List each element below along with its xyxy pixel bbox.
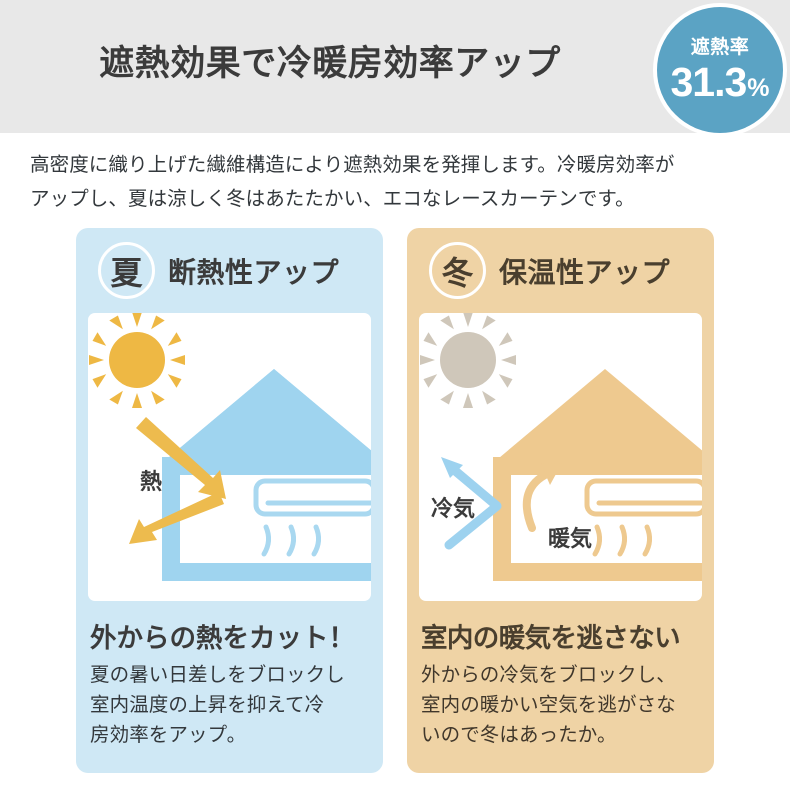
badge-percent-sign: %: [747, 76, 769, 101]
intro-line-2: アップし、夏は涼しく冬はあたたかい、エコなレースカーテンです。: [30, 182, 730, 216]
heat-label: 熱: [140, 469, 162, 494]
summer-heading: 外からの熱をカット！: [90, 616, 375, 655]
air-conditioner-winter-icon: [587, 481, 702, 554]
winter-body-line-2: 室内の暖かい空気を逃がさな: [421, 690, 711, 720]
summer-illustration-card: 熱: [88, 313, 371, 601]
winter-body: 外からの冷気をブロックし、 室内の暖かい空気を逃がさな いので冬はあったか。: [421, 660, 711, 750]
winter-heading: 室内の暖気を逃さない: [421, 616, 706, 655]
summer-body: 夏の暑い日差しをブロックし 室内温度の上昇を抑えて冷 房効率をアップ。: [90, 660, 380, 750]
summer-panel: 夏 断熱性アップ: [76, 228, 383, 773]
winter-panel-title: 保温性アップ: [499, 251, 670, 291]
summer-body-line-2: 室内温度の上昇を抑えて冷: [90, 690, 380, 720]
winter-body-line-3: いので冬はあったか。: [421, 720, 711, 750]
warm-air-label: 暖気: [548, 526, 592, 551]
warm-air-arrow: [527, 473, 549, 528]
winter-panel-header: 冬 保温性アップ: [407, 228, 714, 313]
intro-paragraph: 高密度に織り上げた繊維構造により遮熱効果を発揮します。冷暖房効率が アップし、夏…: [30, 148, 730, 216]
shading-rate-badge: 遮熱率 31.3 %: [653, 3, 787, 137]
winter-panel: 冬 保温性アップ: [407, 228, 714, 773]
summer-panel-header: 夏 断熱性アップ: [76, 228, 383, 313]
cold-air-label: 冷気: [431, 496, 475, 521]
sun-icon: [89, 313, 185, 408]
badge-number: 31.3: [670, 62, 746, 103]
season-badge-winter: 冬: [429, 242, 486, 299]
summer-panel-title: 断熱性アップ: [168, 251, 339, 291]
summer-body-line-1: 夏の暑い日差しをブロックし: [90, 660, 380, 690]
page-title: 遮熱効果で冷暖房効率アップ: [0, 40, 660, 88]
winter-illustration: 冷気 暖気: [419, 313, 702, 601]
intro-line-1: 高密度に織り上げた繊維構造により遮熱効果を発揮します。冷暖房効率が: [30, 148, 730, 182]
badge-label: 遮熱率: [691, 37, 750, 59]
summer-body-line-3: 房効率をアップ。: [90, 720, 380, 750]
winter-body-line-1: 外からの冷気をブロックし、: [421, 660, 711, 690]
air-conditioner-summer-icon: [256, 481, 371, 554]
summer-illustration: 熱: [88, 313, 371, 601]
infographic-page: 遮熱効果で冷暖房効率アップ 遮熱率 31.3 % 高密度に織り上げた繊維構造によ…: [0, 0, 790, 790]
sun-icon: [420, 313, 516, 408]
season-badge-summer: 夏: [98, 242, 155, 299]
badge-value: 31.3 %: [670, 62, 769, 103]
winter-illustration-card: 冷気 暖気: [419, 313, 702, 601]
